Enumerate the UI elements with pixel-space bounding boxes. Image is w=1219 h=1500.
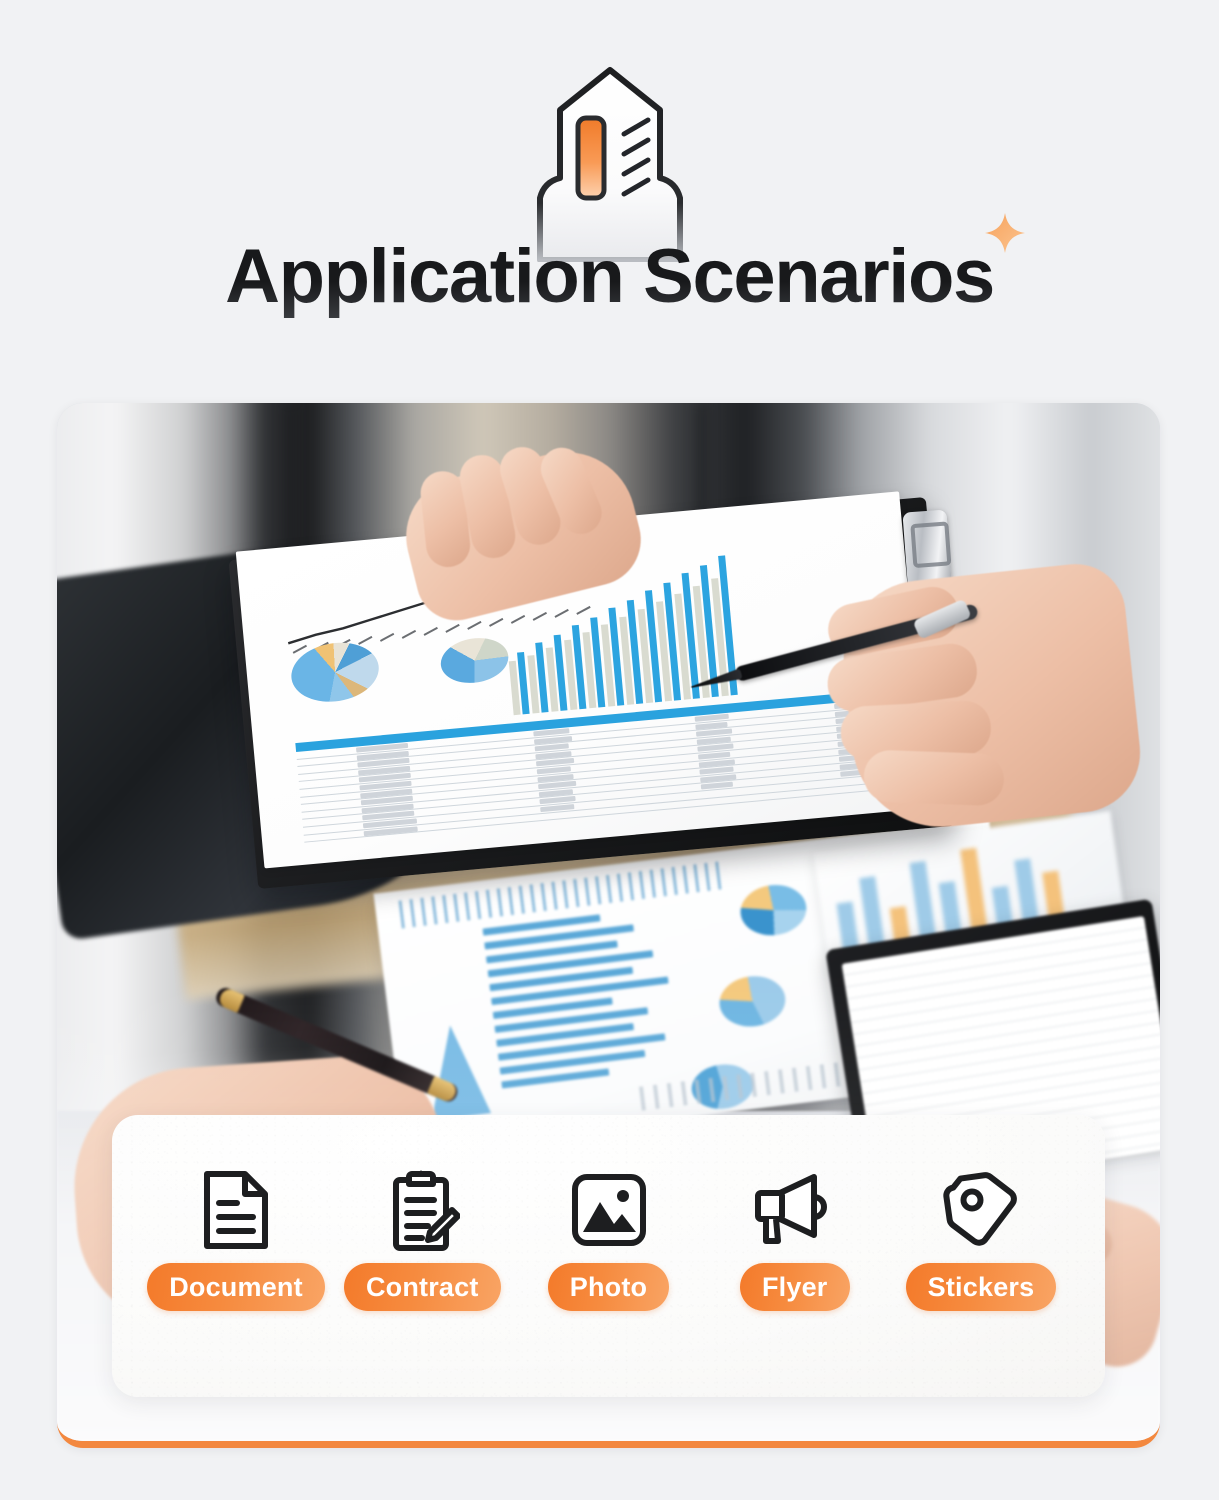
image-icon (570, 1167, 648, 1253)
hero-photo-card: Document (57, 403, 1160, 1448)
right-hand-with-pen (795, 515, 1155, 848)
title-row: Application Scenarios (0, 234, 1219, 320)
badge-flyer[interactable]: Flyer (740, 1263, 850, 1311)
page-title: Application Scenarios (225, 234, 994, 320)
scenario-list: Document (112, 1167, 1105, 1311)
paper-pie-chart (738, 881, 810, 939)
clipboard-pen-icon (384, 1167, 460, 1253)
badge-contract[interactable]: Contract (344, 1263, 501, 1311)
scenario-item-document[interactable]: Document (146, 1167, 326, 1311)
tag-icon (941, 1167, 1021, 1253)
megaphone-icon (752, 1167, 838, 1253)
document-icon (201, 1167, 271, 1253)
scenario-item-contract[interactable]: Contract (332, 1167, 512, 1311)
badge-photo[interactable]: Photo (548, 1263, 669, 1311)
page-header: Application Scenarios (0, 0, 1219, 400)
pie-chart (437, 633, 511, 687)
badge-document[interactable]: Document (147, 1263, 325, 1311)
sparkle-icon (982, 210, 1028, 256)
badge-stickers[interactable]: Stickers (906, 1263, 1057, 1311)
paper-horizontal-bar-chart (483, 907, 680, 1095)
paper-pie-chart (717, 973, 789, 1031)
scenario-panel: Document (112, 1115, 1105, 1397)
business-meeting-photo: Document (57, 403, 1160, 1441)
scenario-item-flyer[interactable]: Flyer (705, 1167, 885, 1311)
building-icon (504, 62, 716, 262)
application-scenarios-page: Application Scenarios (0, 0, 1219, 1500)
scenario-item-stickers[interactable]: Stickers (891, 1167, 1071, 1311)
logo-container (0, 62, 1219, 262)
scenario-item-photo[interactable]: Photo (519, 1167, 699, 1311)
